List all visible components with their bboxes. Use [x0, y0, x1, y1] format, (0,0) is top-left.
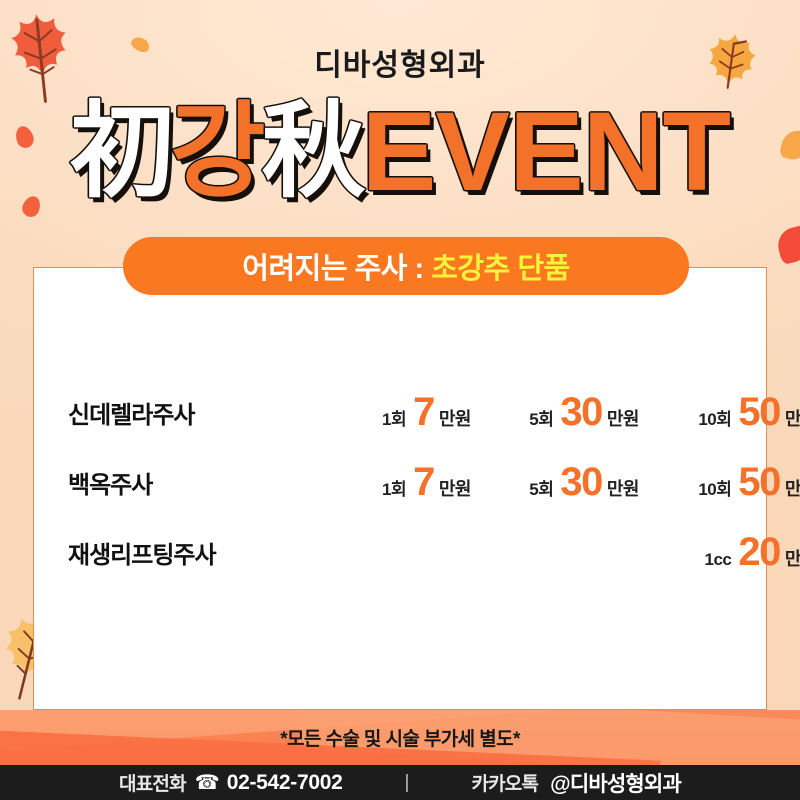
price-qty: 1회 — [382, 405, 406, 430]
price-unit: 만원 — [607, 475, 639, 501]
treatment-name: 백옥주사 — [68, 465, 343, 500]
price-cell: 10회 50 만원 — [665, 390, 800, 435]
phone-label: 대표전화 — [119, 769, 186, 796]
price-amount: 30 — [560, 460, 602, 505]
banner-main-text: 어려지는 주사 : — [242, 253, 431, 285]
price-amount: 50 — [738, 460, 780, 505]
phone-number[interactable]: 02-542-7002 — [227, 771, 343, 795]
section-banner-pill: 어려지는 주사 : 초강추 단품 — [123, 237, 689, 295]
hero-word-event: EVENT — [362, 96, 730, 208]
footer-separator: | — [405, 772, 410, 794]
table-row: 백옥주사 1회 7 만원 5회 30 만원 10회 50 만원 — [68, 447, 745, 517]
price-amount: 20 — [738, 530, 780, 575]
promo-poster: 디바성형외과 初 강 秋 EVENT 어려지는 주사 : 초강추 단품 신데렐라… — [0, 0, 800, 800]
banner-accent-text: 초강추 단품 — [431, 253, 569, 285]
price-amount: 7 — [413, 390, 434, 435]
table-row: 재생리프팅주사 1cc 20 만원 — [68, 517, 745, 587]
price-cell: 1회 7 만원 — [343, 390, 471, 435]
price-amount: 30 — [560, 390, 602, 435]
price-qty: 5회 — [529, 405, 553, 430]
price-cell-group: 1cc 20 만원 — [343, 530, 800, 575]
price-qty: 5회 — [529, 475, 553, 500]
footer-bar: 대표전화 ☎ 02-542-7002 | 카카오톡 @디바성형외과 — [0, 765, 800, 800]
treatment-name: 재생리프팅주사 — [68, 535, 343, 570]
price-unit: 만원 — [785, 545, 800, 571]
kakao-id[interactable]: @디바성형외과 — [550, 768, 681, 798]
hero-char-chu: 秋 — [262, 100, 362, 204]
disclaimer-text: *모든 수술 및 시술 부가세 별도* — [0, 710, 800, 765]
price-cell: 5회 30 만원 — [497, 460, 639, 505]
treatment-name: 신데렐라주사 — [68, 395, 343, 430]
hero-char-gang: 강 — [170, 100, 262, 204]
price-cell: 5회 30 만원 — [497, 390, 639, 435]
price-cell-group: 1회 7 만원 5회 30 만원 10회 50 만원 — [343, 390, 800, 435]
phone-icon: ☎ — [195, 773, 220, 793]
price-cell-group: 1회 7 만원 5회 30 만원 10회 50 만원 — [343, 460, 800, 505]
price-cell: 10회 50 만원 — [665, 460, 800, 505]
clinic-name: 디바성형외과 — [0, 40, 800, 84]
price-unit: 만원 — [439, 475, 471, 501]
price-unit: 만원 — [785, 475, 800, 501]
kakao-label: 카카오톡 — [471, 769, 538, 796]
price-amount: 7 — [413, 460, 434, 505]
price-qty: 10회 — [698, 405, 731, 430]
price-qty: 10회 — [698, 475, 731, 500]
table-row: 신데렐라주사 1회 7 만원 5회 30 만원 10회 50 만원 — [68, 377, 745, 447]
price-qty: 1회 — [382, 475, 406, 500]
hero-char-cho: 初 — [70, 100, 170, 204]
price-table: 신데렐라주사 1회 7 만원 5회 30 만원 10회 50 만원 — [33, 267, 767, 710]
price-cell: 1cc 20 만원 — [665, 530, 800, 575]
hero-title: 初 강 秋 EVENT — [0, 92, 800, 212]
price-qty: 1cc — [705, 550, 732, 570]
price-unit: 만원 — [439, 405, 471, 431]
price-cell: 1회 7 만원 — [343, 460, 471, 505]
price-amount: 50 — [738, 390, 780, 435]
price-unit: 만원 — [785, 405, 800, 431]
footer-content: 대표전화 ☎ 02-542-7002 | 카카오톡 @디바성형외과 — [119, 768, 681, 798]
price-unit: 만원 — [607, 405, 639, 431]
